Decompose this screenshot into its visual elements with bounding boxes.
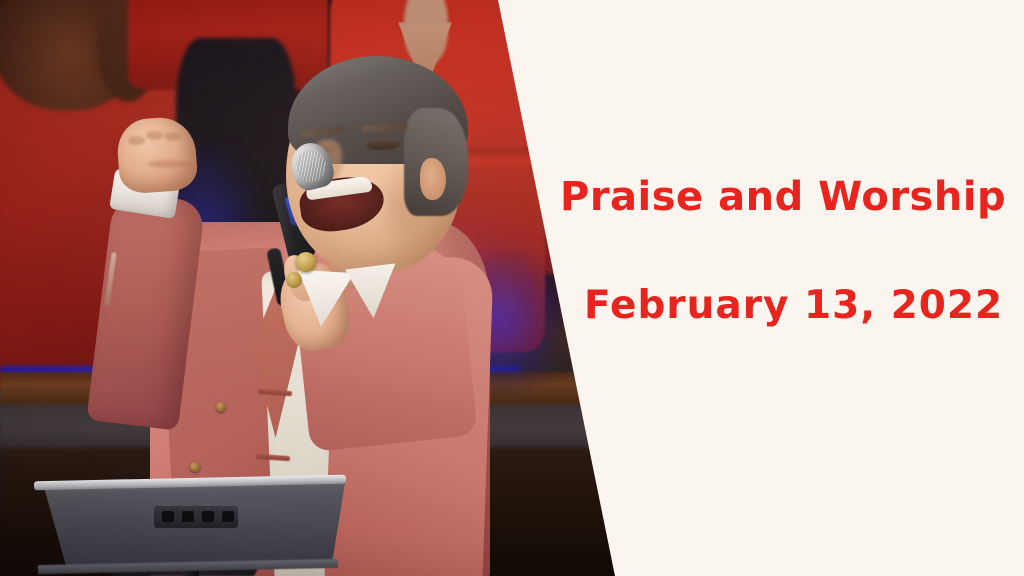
headline-text: Praise and Worship: [560, 176, 1024, 219]
lapel-pin-icon: [296, 252, 316, 272]
knuckle-1: [128, 136, 145, 145]
raised-fist: [116, 115, 199, 194]
video-thumbnail: Praise and Worship February 13, 2022: [0, 0, 1024, 576]
clamp-notch-1: [162, 511, 174, 522]
date-text: February 13, 2022: [584, 285, 1024, 327]
finger-crease: [148, 160, 192, 168]
jacket-button-bottom: [190, 462, 200, 472]
clamp-notch-3: [202, 511, 214, 522]
ear: [420, 158, 446, 200]
lapel-pin-secondary-icon: [286, 272, 302, 288]
jacket-button-top: [216, 402, 226, 412]
knuckle-2: [146, 131, 163, 140]
knuckle-3: [164, 132, 181, 141]
clamp-notch-4: [222, 511, 234, 522]
title-block: Praise and Worship February 13, 2022: [560, 176, 1024, 327]
clamp-notch-2: [182, 511, 194, 522]
